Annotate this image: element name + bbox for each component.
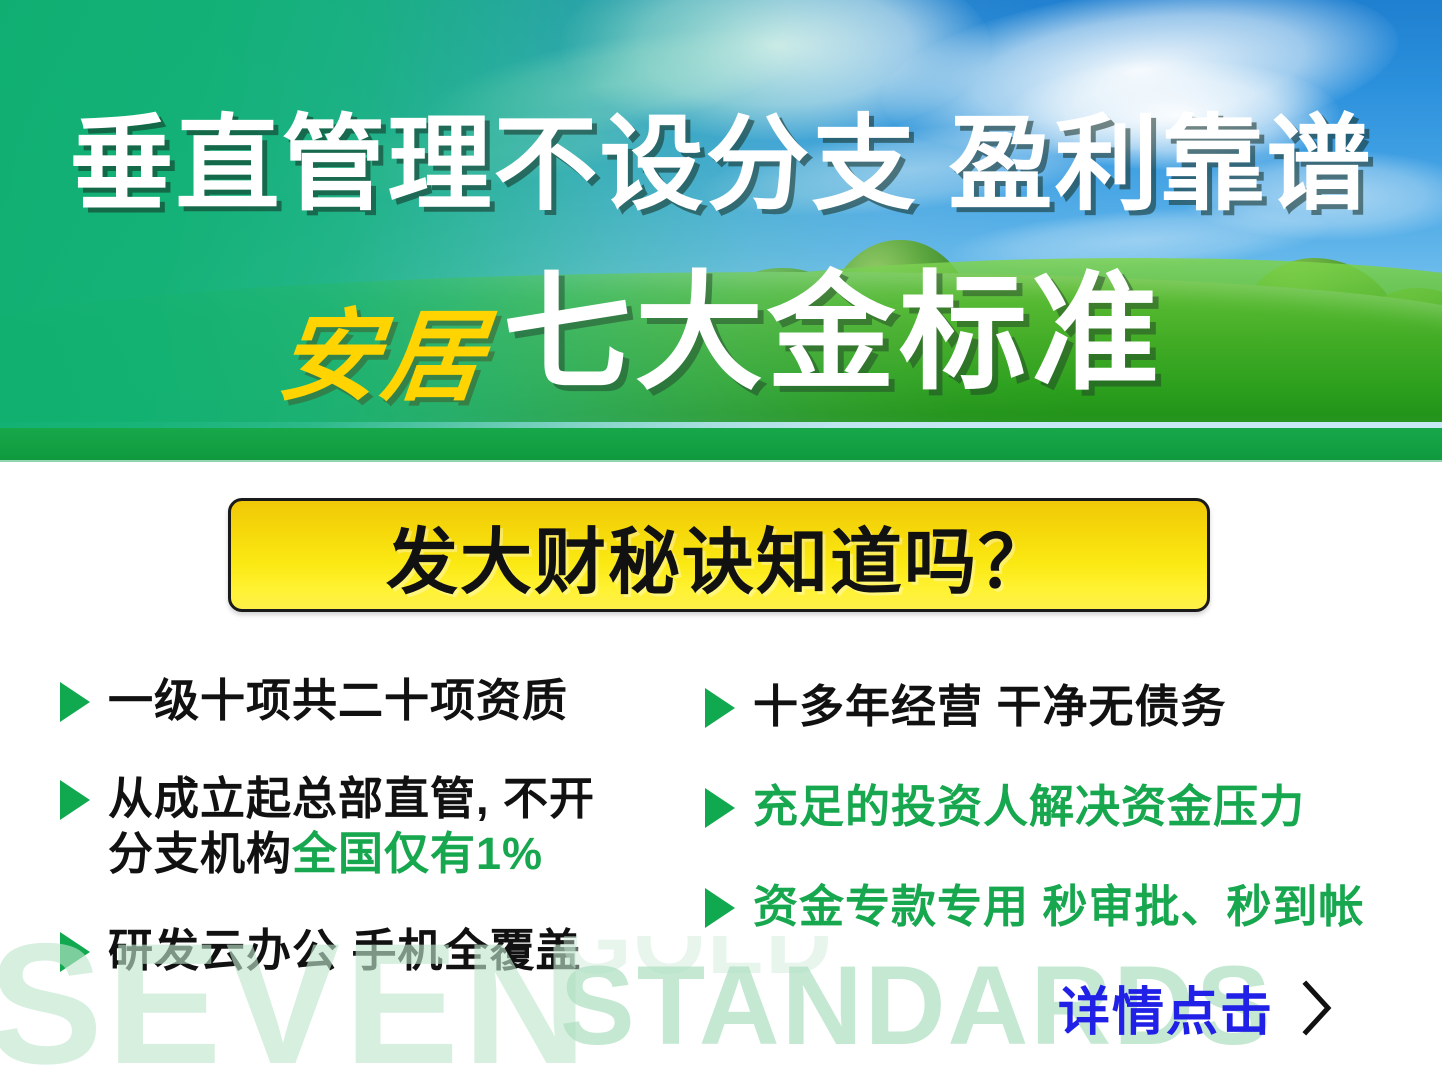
feature-text: 研发云办公 手机全覆盖 xyxy=(108,924,582,979)
features-section: 一级十项共二十项资质 从成立起总部直管, 不开 分支机构全国仅有1% 研发云办公… xyxy=(0,662,1442,992)
hero-subtitle-main: 七大金标准 xyxy=(503,270,1163,398)
feature-text: 资金专款专用 秒审批、秒到帐 xyxy=(753,880,1365,935)
green-divider-band xyxy=(0,428,1442,462)
feature-text: 一级十项共二十项资质 xyxy=(108,674,568,729)
cta-banner-label: 发大财秘诀知道吗？ xyxy=(386,503,1052,608)
triangle-bullet-icon xyxy=(705,788,735,828)
feature-text: 充足的投资人解决资金压力 xyxy=(753,780,1305,835)
hero-subtitle: 安居七大金标准 xyxy=(0,270,1442,398)
feature-text-line1: 从成立起总部直管, 不开 xyxy=(108,773,595,824)
feature-item: 充足的投资人解决资金压力 xyxy=(705,780,1305,835)
feature-text-highlight: 全国仅有1% xyxy=(292,828,543,879)
detail-link-label: 详情点击 xyxy=(1058,970,1274,1045)
chevron-right-icon xyxy=(1300,980,1334,1036)
triangle-bullet-icon xyxy=(705,888,735,928)
triangle-bullet-icon xyxy=(60,932,90,972)
triangle-bullet-icon xyxy=(705,688,735,728)
feature-item: 十多年经营 干净无债务 xyxy=(705,680,1227,735)
triangle-bullet-icon xyxy=(60,682,90,722)
feature-item: 一级十项共二十项资质 xyxy=(60,674,568,729)
feature-item: 资金专款专用 秒审批、秒到帐 xyxy=(705,880,1365,935)
hero-subtitle-brand: 安居 xyxy=(274,307,493,407)
hero-section: 垂直管理不设分支 盈利靠谱 安居七大金标准 xyxy=(0,0,1442,462)
cta-banner-button[interactable]: 发大财秘诀知道吗？ xyxy=(228,498,1210,612)
hero-title: 垂直管理不设分支 盈利靠谱 xyxy=(0,112,1442,218)
triangle-bullet-icon xyxy=(60,780,90,820)
promo-banner: 垂直管理不设分支 盈利靠谱 安居七大金标准 发大财秘诀知道吗？ 一级十项共二十项… xyxy=(0,0,1442,1066)
feature-item: 从成立起总部直管, 不开 分支机构全国仅有1% xyxy=(60,772,595,882)
feature-text: 十多年经营 干净无债务 xyxy=(753,680,1227,735)
detail-link[interactable]: 详情点击 xyxy=(1058,970,1334,1045)
feature-text-line2: 分支机构 xyxy=(108,828,292,879)
feature-text-multiline: 从成立起总部直管, 不开 分支机构全国仅有1% xyxy=(108,772,595,882)
feature-item: 研发云办公 手机全覆盖 xyxy=(60,924,582,979)
